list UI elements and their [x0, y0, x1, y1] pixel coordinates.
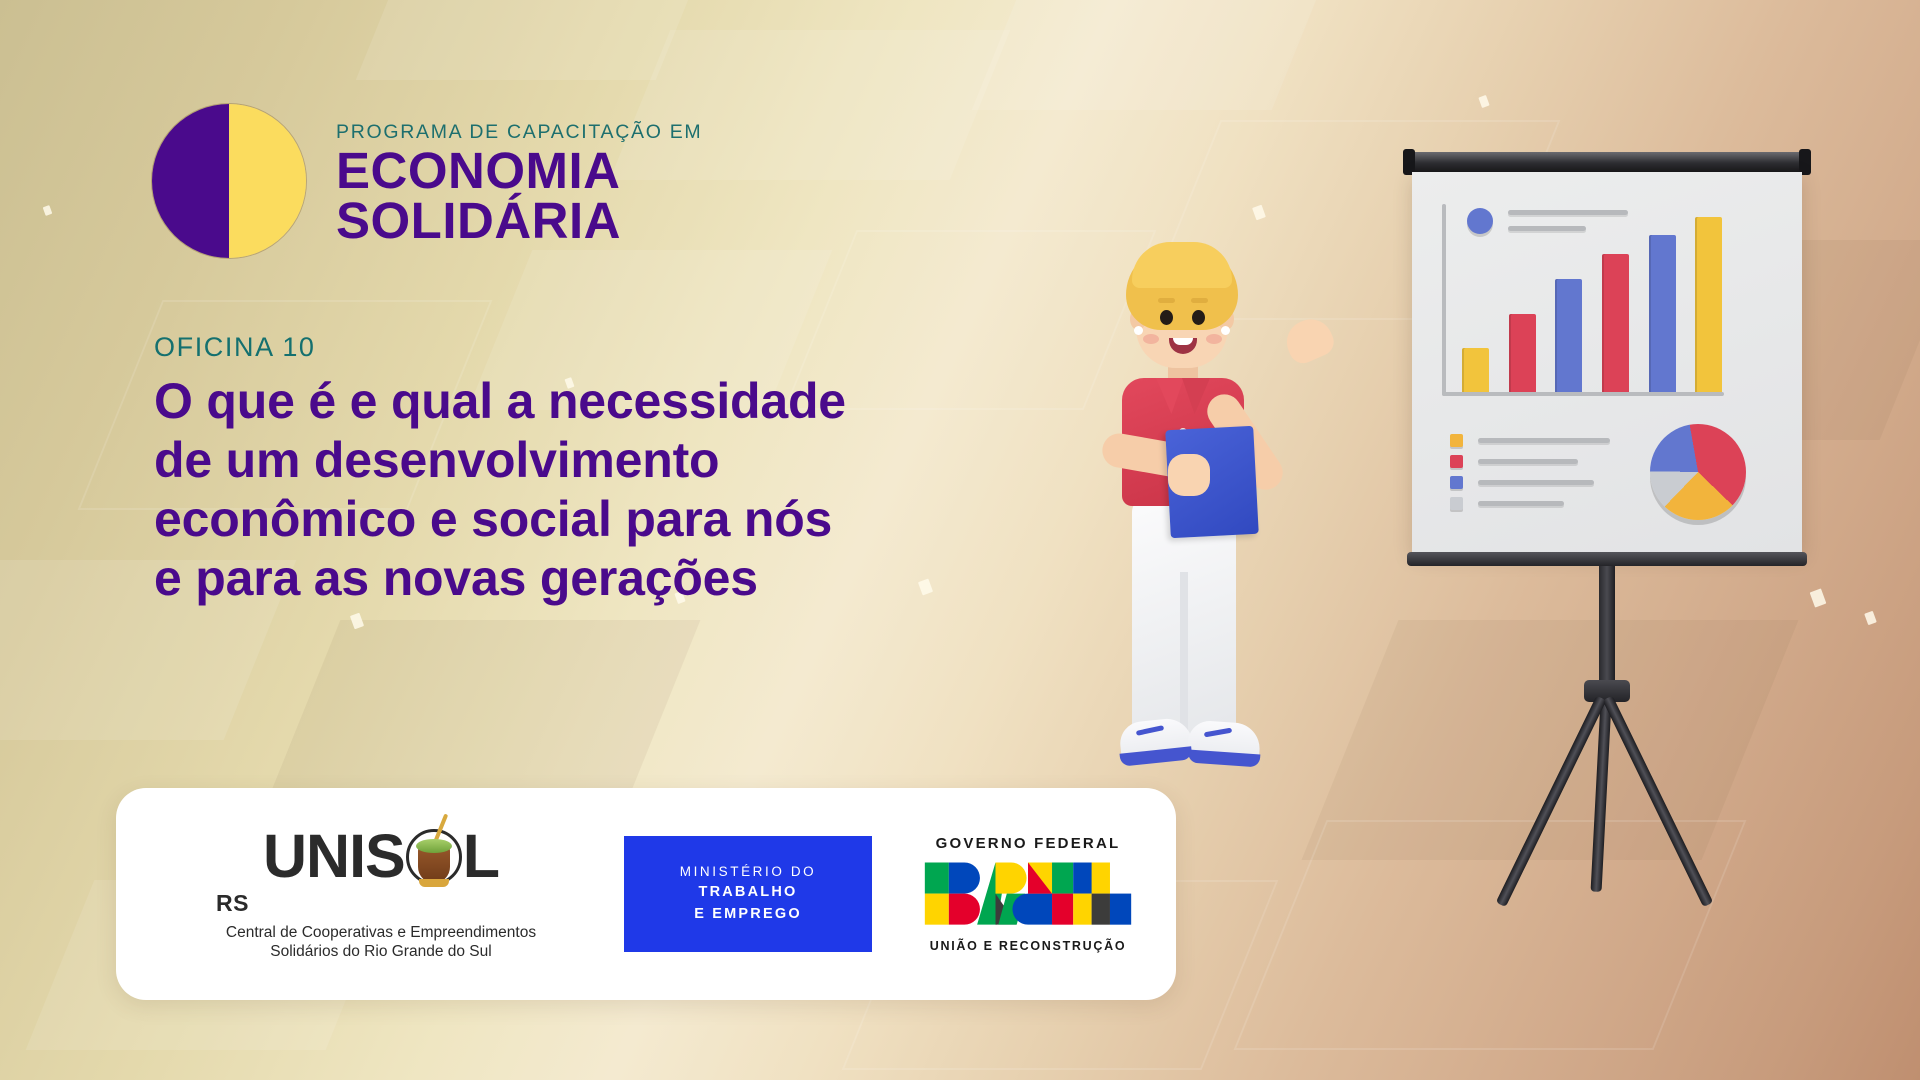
unisol-logo: UNIS L RS Central de Cooperativas e Empr…: [216, 826, 546, 961]
workshop-title: O que é e qual a necessidade de um desen…: [154, 372, 1154, 608]
bar-2: [1509, 314, 1536, 392]
program-logo: PROGRAMA DE CAPACITAÇÃO EM ECONOMIA SOLI…: [152, 104, 702, 258]
pie-swatch-red: [1450, 455, 1463, 468]
pie-legend-line-1: [1478, 438, 1610, 443]
circle-mark-left-half: [152, 104, 229, 258]
presentation-illustration: [1120, 120, 1920, 1080]
unisol-word-before: UNIS: [263, 826, 405, 887]
pie-swatch-yellow: [1450, 434, 1463, 447]
presentation-board: [1412, 172, 1802, 552]
ministry-line1: MINISTÉRIO DO: [680, 862, 817, 882]
governo-federal-logo: GOVERNO FEDERAL UN: [904, 835, 1152, 953]
pie-legend-line-2: [1478, 459, 1578, 464]
title-line-4: e para as novas gerações: [154, 549, 1154, 608]
program-name-line2: SOLIDÁRIA: [336, 196, 702, 246]
governo-federal-label: GOVERNO FEDERAL: [936, 835, 1121, 852]
character-cheek-left: [1143, 334, 1159, 344]
pie-legend-line-4: [1478, 501, 1564, 506]
sponsor-logos-card: UNIS L RS Central de Cooperativas e Empr…: [116, 788, 1176, 1000]
mate-gourd-icon: [406, 829, 462, 885]
bar-6: [1695, 217, 1722, 392]
unisol-tagline-line2: Solidários do Rio Grande do Sul: [226, 943, 536, 962]
ministry-line2: TRABALHO: [699, 882, 798, 904]
character-eye-left: [1160, 310, 1173, 325]
governo-federal-slogan: UNIÃO E RECONSTRUÇÃO: [930, 939, 1127, 953]
workshop-number-label: OFICINA 10: [154, 332, 1154, 363]
poster-canvas: PROGRAMA DE CAPACITAÇÃO EM ECONOMIA SOLI…: [0, 0, 1920, 1080]
program-kicker: PROGRAMA DE CAPACITAÇÃO EM: [336, 121, 702, 144]
character-leg-gap: [1180, 572, 1188, 734]
character-earring-right: [1221, 326, 1230, 335]
character-brow-right: [1191, 298, 1208, 303]
circle-mark-right-half: [229, 104, 306, 258]
title-line-2: de um desenvolvimento: [154, 431, 1154, 490]
ministry-line3: E EMPREGO: [694, 904, 802, 926]
pie-legend-line-3: [1478, 480, 1594, 485]
brasil-wordmark-icon: [922, 858, 1134, 932]
title-line-3: econômico e social para nós: [154, 490, 1154, 549]
screen-bottom-bar: [1407, 552, 1807, 566]
unisol-state-label: RS: [216, 890, 249, 917]
bar-4: [1602, 254, 1629, 392]
bar-chart-y-axis: [1442, 204, 1446, 396]
unisol-tagline-line1: Central de Cooperativas e Empreendimento…: [226, 924, 536, 943]
pie-chart: [1650, 424, 1746, 520]
title-line-1: O que é e qual a necessidade: [154, 372, 1154, 431]
economia-solidaria-circle-mark: [152, 104, 306, 258]
character-hand-pointing: [1280, 312, 1338, 367]
bar-3: [1555, 279, 1582, 392]
bar-chart: [1454, 204, 1734, 392]
unisol-tagline: Central de Cooperativas e Empreendimento…: [226, 924, 536, 961]
presenter-character: [1110, 192, 1350, 792]
bar-chart-x-axis: [1442, 392, 1724, 396]
unisol-word-after: L: [463, 826, 499, 887]
ministry-of-labor-logo: MINISTÉRIO DO TRABALHO E EMPREGO: [624, 836, 872, 952]
character-hand-holding: [1168, 454, 1210, 496]
program-name-line1: ECONOMIA: [336, 146, 702, 196]
unisol-wordmark: UNIS L: [263, 826, 499, 887]
tripod-leg-right: [1496, 696, 1607, 908]
tripod-leg-left: [1603, 696, 1714, 908]
tripod-column: [1599, 566, 1615, 686]
screen-top-bar: [1407, 152, 1807, 172]
character-eye-right: [1192, 310, 1205, 325]
unisol-rs-row: RS: [216, 890, 546, 917]
pie-swatch-blue: [1450, 476, 1463, 489]
character-hair-front: [1132, 242, 1232, 288]
character-earring-left: [1134, 326, 1143, 335]
bar-5: [1649, 235, 1676, 392]
program-logo-text: PROGRAMA DE CAPACITAÇÃO EM ECONOMIA SOLI…: [336, 117, 702, 246]
character-brow-left: [1158, 298, 1175, 303]
bar-1: [1462, 348, 1489, 392]
character-cheek-right: [1206, 334, 1222, 344]
pie-swatch-gray: [1450, 497, 1463, 510]
workshop-title-block: OFICINA 10 O que é e qual a necessidade …: [154, 332, 1154, 608]
